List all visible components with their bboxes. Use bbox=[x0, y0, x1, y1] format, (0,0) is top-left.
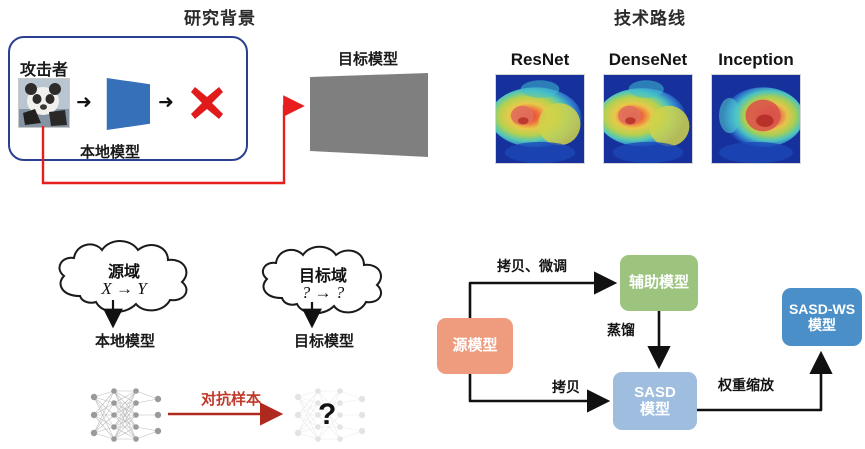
pipeline-node-sasd-model-line2: 模型 bbox=[640, 401, 670, 418]
pipeline-node-sasd-model-line1: SASD bbox=[634, 384, 676, 401]
source-model-caption: 本地模型 bbox=[62, 330, 188, 351]
inception-gradcam-heatmap bbox=[711, 74, 801, 164]
pipeline-node-sasd-ws-model-line1: SASD-WS bbox=[789, 301, 855, 317]
adversarial-sample-label: 对抗样本 bbox=[176, 388, 286, 409]
cam-col-resnet: ResNet bbox=[495, 50, 585, 164]
figure-canvas: 研究背景 技术路线 攻击者 ➜ ➜ 本地模型 目标模型 bbox=[0, 0, 865, 449]
cam-label-densenet: DenseNet bbox=[603, 50, 693, 70]
densenet-gradcam-heatmap bbox=[603, 74, 693, 164]
source-domain-mapping: X → Y bbox=[44, 279, 204, 299]
target-model-label: 目标模型 bbox=[308, 48, 428, 69]
black-right-arrow: ➜ bbox=[76, 93, 92, 112]
cam-label-resnet: ResNet bbox=[495, 50, 585, 70]
edge-copy-finetune bbox=[470, 283, 612, 318]
local-model-label: 本地模型 bbox=[80, 141, 140, 162]
research-background-title: 研究背景 bbox=[140, 4, 300, 29]
pipeline-node-auxiliary-model-label: 辅助模型 bbox=[629, 274, 689, 291]
pipeline-node-sasd-ws-model-line2: 模型 bbox=[808, 317, 836, 333]
resnet-gradcam-heatmap bbox=[495, 74, 585, 164]
blue-trapezoid-model-icon bbox=[104, 78, 150, 130]
target-model-shape bbox=[308, 73, 430, 162]
unknown-marker: ? bbox=[318, 400, 336, 430]
pipeline-node-auxiliary-model[interactable]: 辅助模型 bbox=[620, 255, 698, 311]
edge-label-distill: 蒸馏 bbox=[607, 320, 635, 340]
cam-col-inception: Inception bbox=[711, 50, 801, 164]
source-domain-cloud: 源域 X → Y bbox=[44, 232, 204, 318]
panda-image bbox=[18, 78, 70, 128]
pipeline-node-source-model-label: 源模型 bbox=[452, 337, 497, 354]
edge-label-copy: 拷贝 bbox=[552, 377, 580, 397]
pipeline-node-sasd-ws-model[interactable]: SASD-WS 模型 bbox=[782, 288, 862, 346]
edge-label-copy-finetune: 拷贝、微调 bbox=[497, 256, 567, 276]
target-domain-mapping: ? → ? bbox=[248, 283, 398, 303]
pipeline-node-sasd-model[interactable]: SASD 模型 bbox=[613, 372, 697, 430]
pipeline-node-source-model[interactable]: 源模型 bbox=[437, 318, 513, 374]
technical-route-title: 技术路线 bbox=[570, 4, 730, 29]
red-x-icon bbox=[188, 84, 226, 122]
cam-col-densenet: DenseNet bbox=[603, 50, 693, 164]
black-right-arrow-2: ➜ bbox=[158, 93, 174, 112]
cam-label-inception: Inception bbox=[711, 50, 801, 70]
target-domain-cloud: 目标域 ? → ? bbox=[248, 238, 398, 320]
neural-network-icon bbox=[80, 385, 172, 449]
edge-copy bbox=[470, 374, 605, 401]
attacker-label: 攻击者 bbox=[20, 56, 68, 80]
edge-label-weight-scaling: 权重缩放 bbox=[718, 375, 774, 395]
target-model-caption: 目标模型 bbox=[262, 330, 386, 351]
